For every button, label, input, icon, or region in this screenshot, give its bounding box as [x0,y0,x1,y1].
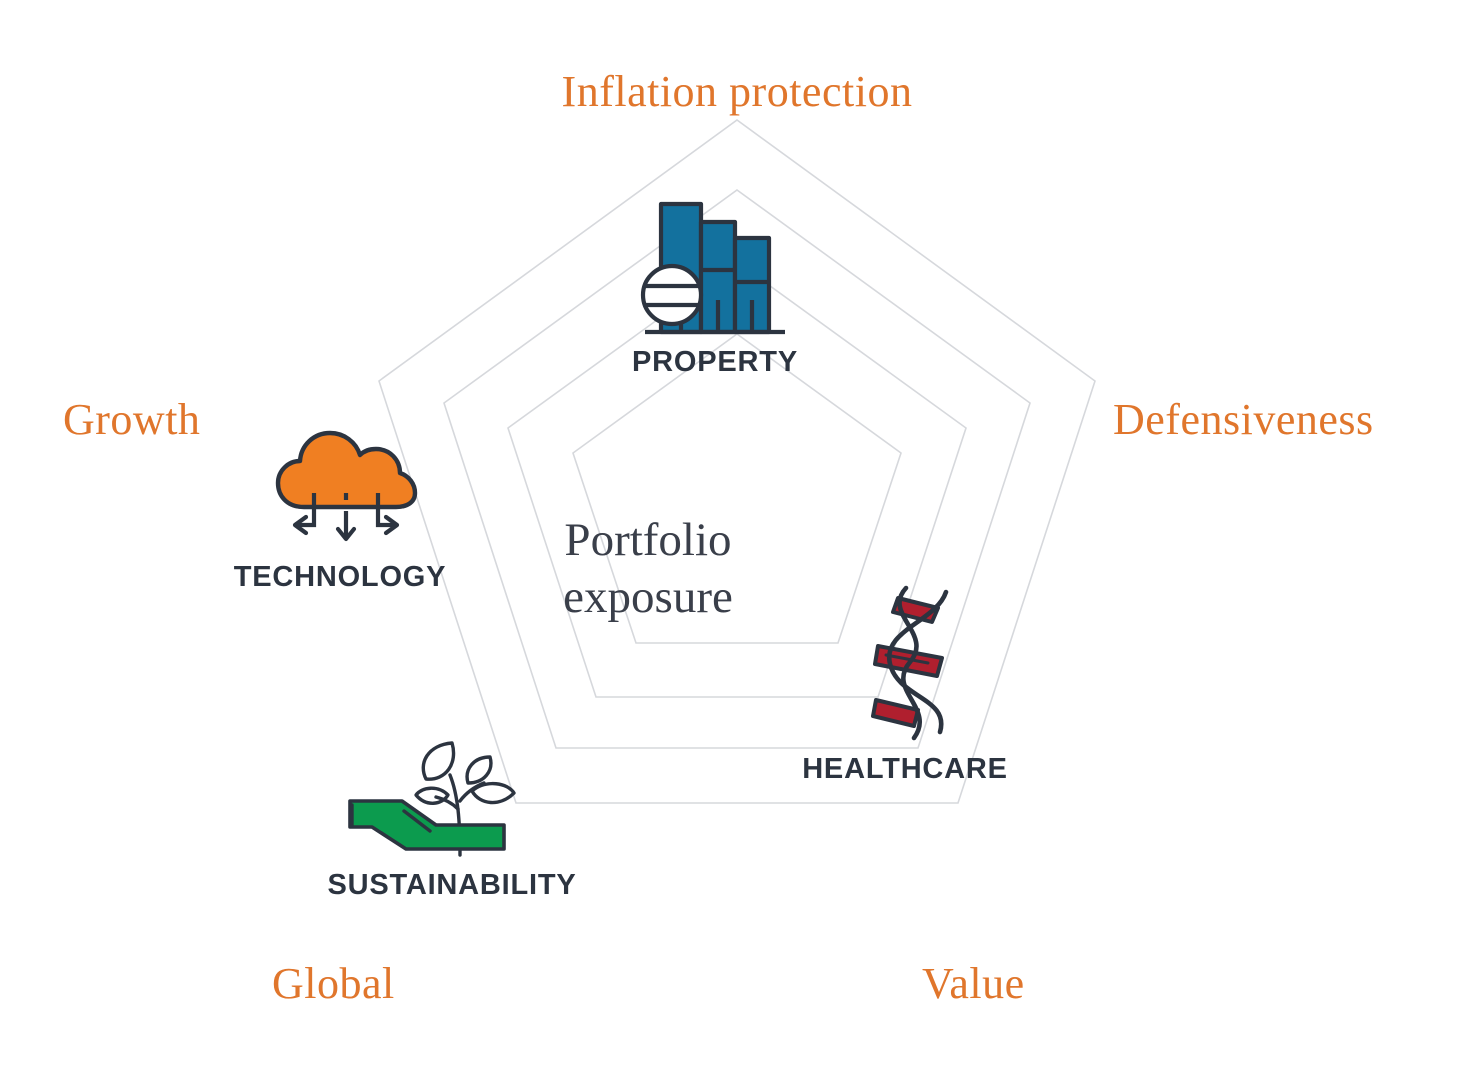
sector-label-property: PROPERTY [560,346,870,379]
axis-label-defensiveness: Defensiveness [1113,398,1374,442]
cloud-computing-icon [270,425,420,555]
axis-label-inflation-protection: Inflation protection [562,70,913,114]
sector-technology: TECHNOLOGY [190,425,490,594]
hand-plant-icon [344,735,534,865]
sector-property: PROPERTY [560,190,870,379]
sector-sustainability: SUSTAINABILITY [272,735,632,902]
portfolio-exposure-diagram: Inflation protection Growth Defensivenes… [0,0,1474,1070]
dna-helix-icon [862,580,958,745]
office-buildings-icon [639,190,791,342]
sector-label-sustainability: SUSTAINABILITY [272,869,632,902]
axis-label-global: Global [272,962,395,1006]
center-label: Portfolio exposure [563,512,733,627]
axis-label-growth: Growth [63,398,200,442]
axis-label-value: Value [922,962,1025,1006]
sector-label-technology: TECHNOLOGY [190,561,490,594]
sector-healthcare: HEALTHCARE [760,580,1050,786]
sector-label-healthcare: HEALTHCARE [760,753,1050,786]
